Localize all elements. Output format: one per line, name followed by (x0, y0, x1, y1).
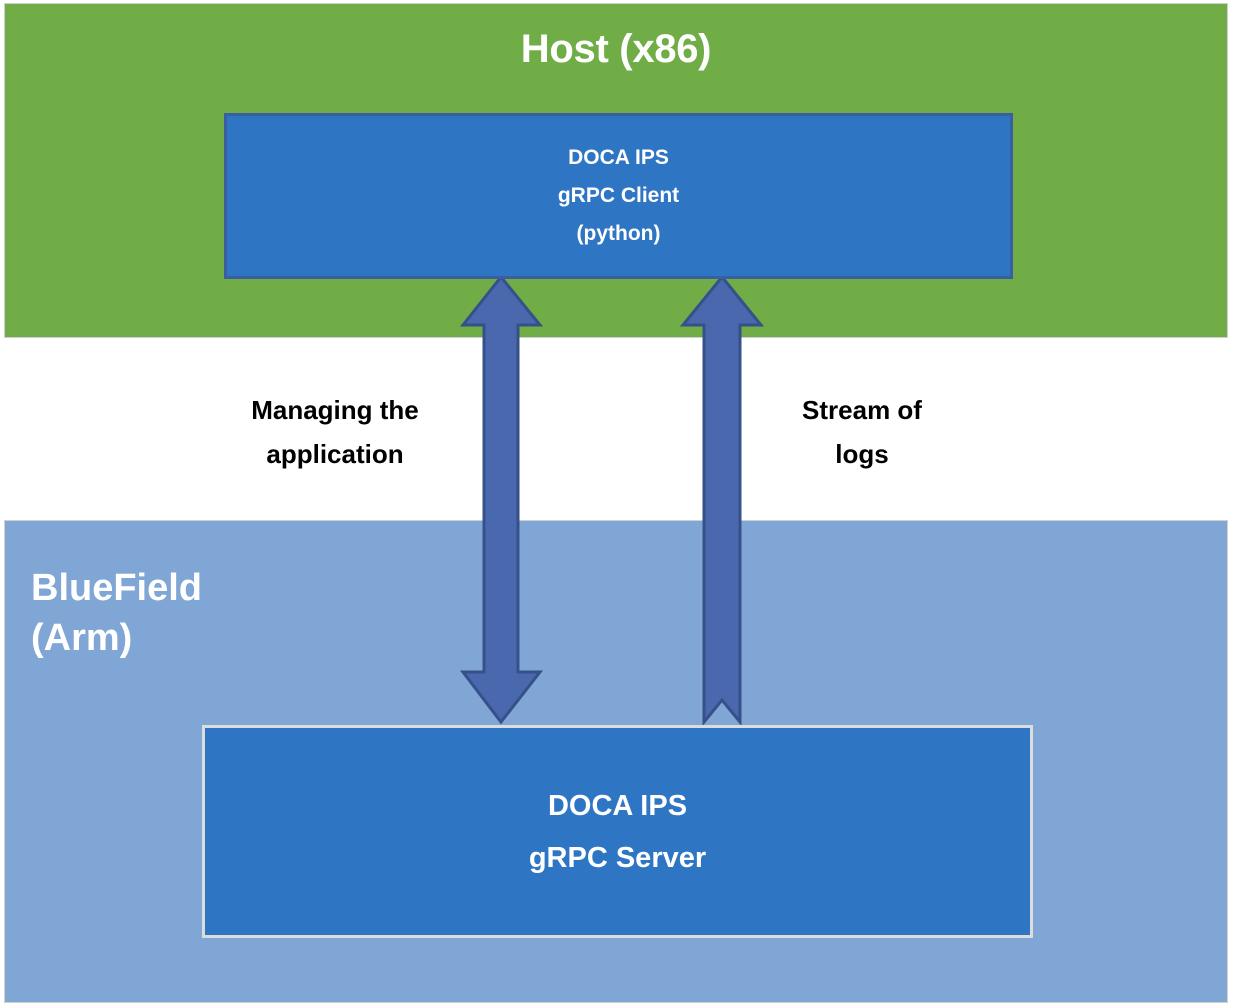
diagram-canvas: Host (x86) BlueField (Arm) DOCA IPS gRPC… (0, 0, 1234, 1007)
doca-ips-grpc-server-label: DOCA IPS gRPC Server (529, 780, 706, 884)
doca-ips-grpc-server-box[interactable]: DOCA IPS gRPC Server (202, 725, 1033, 938)
doca-ips-grpc-client-label: DOCA IPS gRPC Client (python) (558, 139, 679, 253)
connection-label-managing-the-application: Managing the application (190, 388, 480, 476)
connection-label-stream-of-logs: Stream of logs (760, 388, 964, 476)
doca-ips-grpc-client-box[interactable]: DOCA IPS gRPC Client (python) (224, 113, 1013, 279)
bluefield-panel-title: BlueField (Arm) (31, 563, 202, 663)
host-panel-title: Host (x86) (5, 26, 1227, 72)
